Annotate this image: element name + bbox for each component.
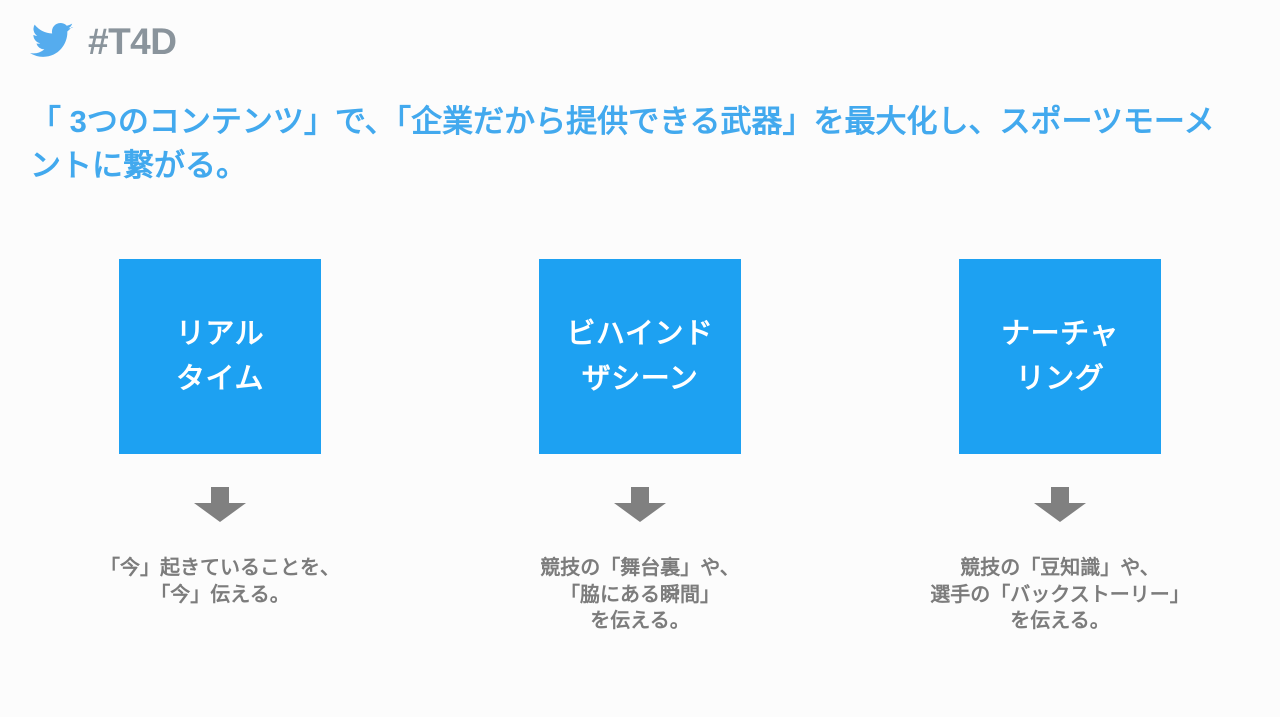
- arrow-down-icon: [190, 487, 250, 523]
- slide-headline: 「 3つのコンテンツ」で、「企業だから提供できる武器」を最大化し、スポーツモーメ…: [30, 100, 1245, 188]
- pillar-card-label: ビハインド ザシーン: [567, 312, 714, 402]
- pillar-caption: 競技の「豆知識」や、 選手の「バックストーリー」 を伝える。: [930, 555, 1189, 635]
- pillar-column-3: ナーチャ リング 競技の「豆知識」や、 選手の「バックストーリー」 を伝える。: [850, 259, 1270, 635]
- arrow-down-icon: [610, 487, 670, 523]
- pillar-card-label: ナーチャ リング: [1001, 312, 1119, 402]
- pillar-caption: 競技の「舞台裏」や、 「脇にある瞬間」 を伝える。: [540, 555, 739, 635]
- pillar-card-realtime[interactable]: リアル タイム: [119, 259, 321, 454]
- brand-hashtag: #T4D: [88, 23, 176, 60]
- pillar-card-label: リアル タイム: [176, 312, 264, 402]
- arrow-down-icon: [1030, 487, 1090, 523]
- twitter-bird-icon: [30, 22, 74, 60]
- pillar-column-2: ビハインド ザシーン 競技の「舞台裏」や、 「脇にある瞬間」 を伝える。: [430, 259, 850, 635]
- slide-header: #T4D: [30, 22, 176, 60]
- content-pillars: リアル タイム 「今」起きていることを、 「今」伝える。 ビハインド ザシーン …: [0, 259, 1280, 635]
- pillar-caption: 「今」起きていることを、 「今」伝える。: [100, 555, 340, 608]
- pillar-column-1: リアル タイム 「今」起きていることを、 「今」伝える。: [10, 259, 430, 635]
- pillar-card-nurturing[interactable]: ナーチャ リング: [959, 259, 1161, 454]
- pillar-card-behind-the-scene[interactable]: ビハインド ザシーン: [539, 259, 741, 454]
